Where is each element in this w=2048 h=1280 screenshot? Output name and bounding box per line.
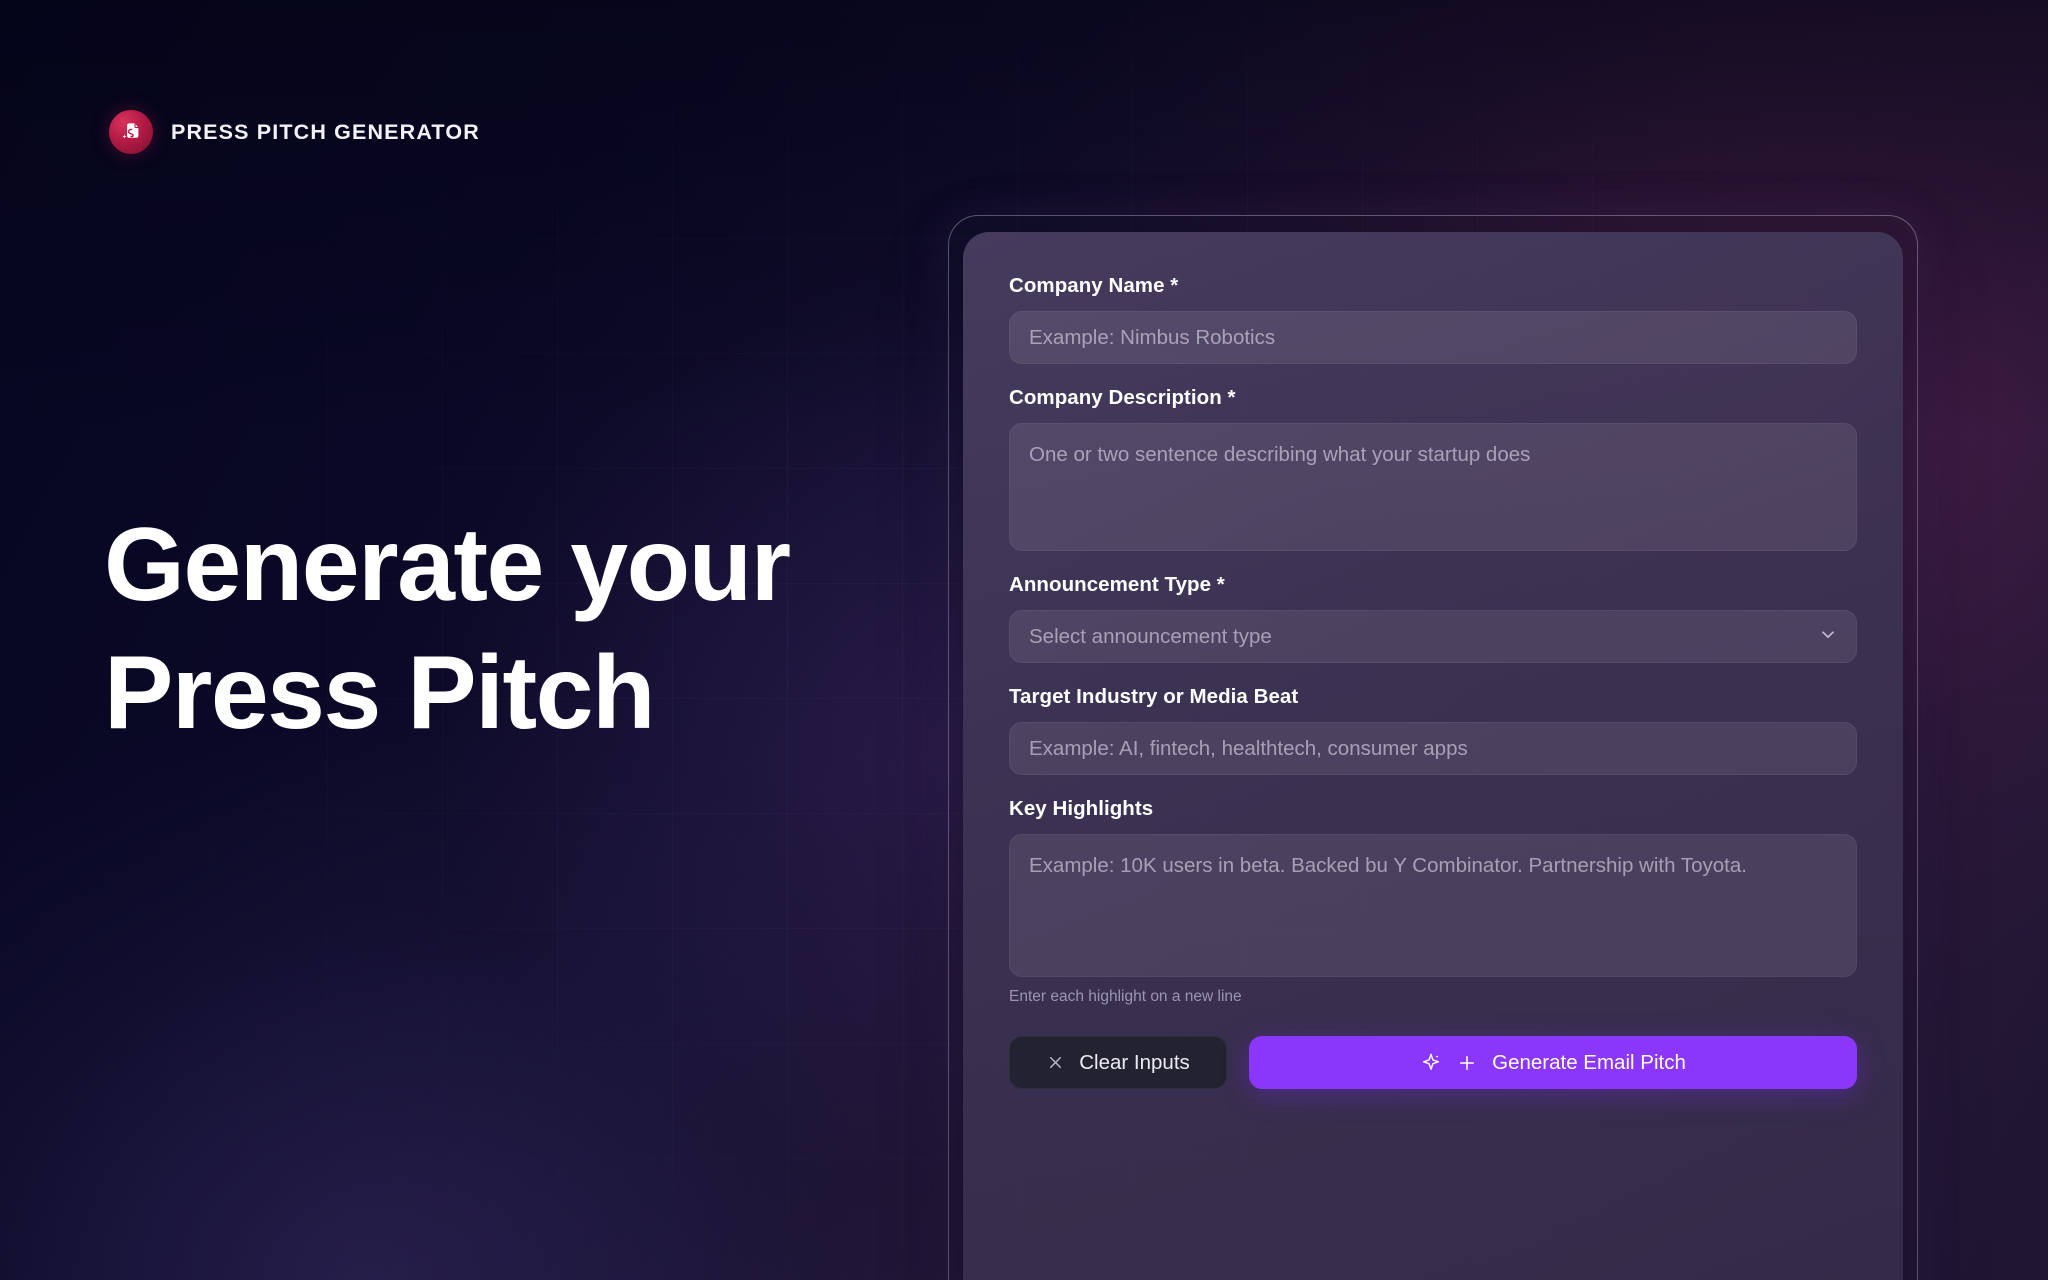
- company-name-input[interactable]: [1009, 311, 1857, 364]
- hero-heading: Generate your Press Pitch: [104, 512, 984, 746]
- plus-icon: [1456, 1052, 1478, 1074]
- label-target-industry: Target Industry or Media Beat: [1009, 685, 1857, 709]
- field-target-industry: Target Industry or Media Beat: [1009, 685, 1857, 775]
- sparkle-icon: [1420, 1052, 1442, 1074]
- app-root: PRESS PITCH GENERATOR Generate your Pres…: [0, 0, 2048, 1280]
- document-sparkle-icon: [109, 110, 153, 154]
- pitch-form-card: Company Name * Company Description * Ann…: [963, 232, 1903, 1280]
- announcement-type-select[interactable]: Select announcement type: [1009, 610, 1857, 663]
- announcement-type-value[interactable]: Select announcement type: [1009, 610, 1857, 663]
- field-key-highlights: Key Highlights Enter each highlight on a…: [1009, 797, 1857, 1006]
- label-company-name: Company Name *: [1009, 274, 1857, 298]
- generate-email-pitch-label: Generate Email Pitch: [1492, 1051, 1686, 1075]
- clear-inputs-button[interactable]: Clear Inputs: [1009, 1036, 1227, 1089]
- field-announcement-type: Announcement Type * Select announcement …: [1009, 573, 1857, 663]
- close-x-icon: [1046, 1053, 1065, 1072]
- key-highlights-helper-text: Enter each highlight on a new line: [1009, 988, 1857, 1006]
- clear-inputs-label: Clear Inputs: [1079, 1051, 1190, 1075]
- label-announcement-type: Announcement Type *: [1009, 573, 1857, 597]
- target-industry-input[interactable]: [1009, 722, 1857, 775]
- brand-title: PRESS PITCH GENERATOR: [171, 120, 480, 145]
- company-description-textarea[interactable]: [1009, 423, 1857, 551]
- label-key-highlights: Key Highlights: [1009, 797, 1857, 821]
- key-highlights-textarea[interactable]: [1009, 834, 1857, 977]
- brand-header: PRESS PITCH GENERATOR: [109, 110, 480, 154]
- label-company-description: Company Description *: [1009, 386, 1857, 410]
- field-company-description: Company Description *: [1009, 386, 1857, 551]
- field-company-name: Company Name *: [1009, 274, 1857, 364]
- generate-email-pitch-button[interactable]: Generate Email Pitch: [1249, 1036, 1857, 1089]
- hero-line-2: Press Pitch: [104, 640, 984, 746]
- form-actions: Clear Inputs Generate Email Pitch: [1009, 1036, 1857, 1089]
- hero-line-1: Generate your: [104, 512, 984, 618]
